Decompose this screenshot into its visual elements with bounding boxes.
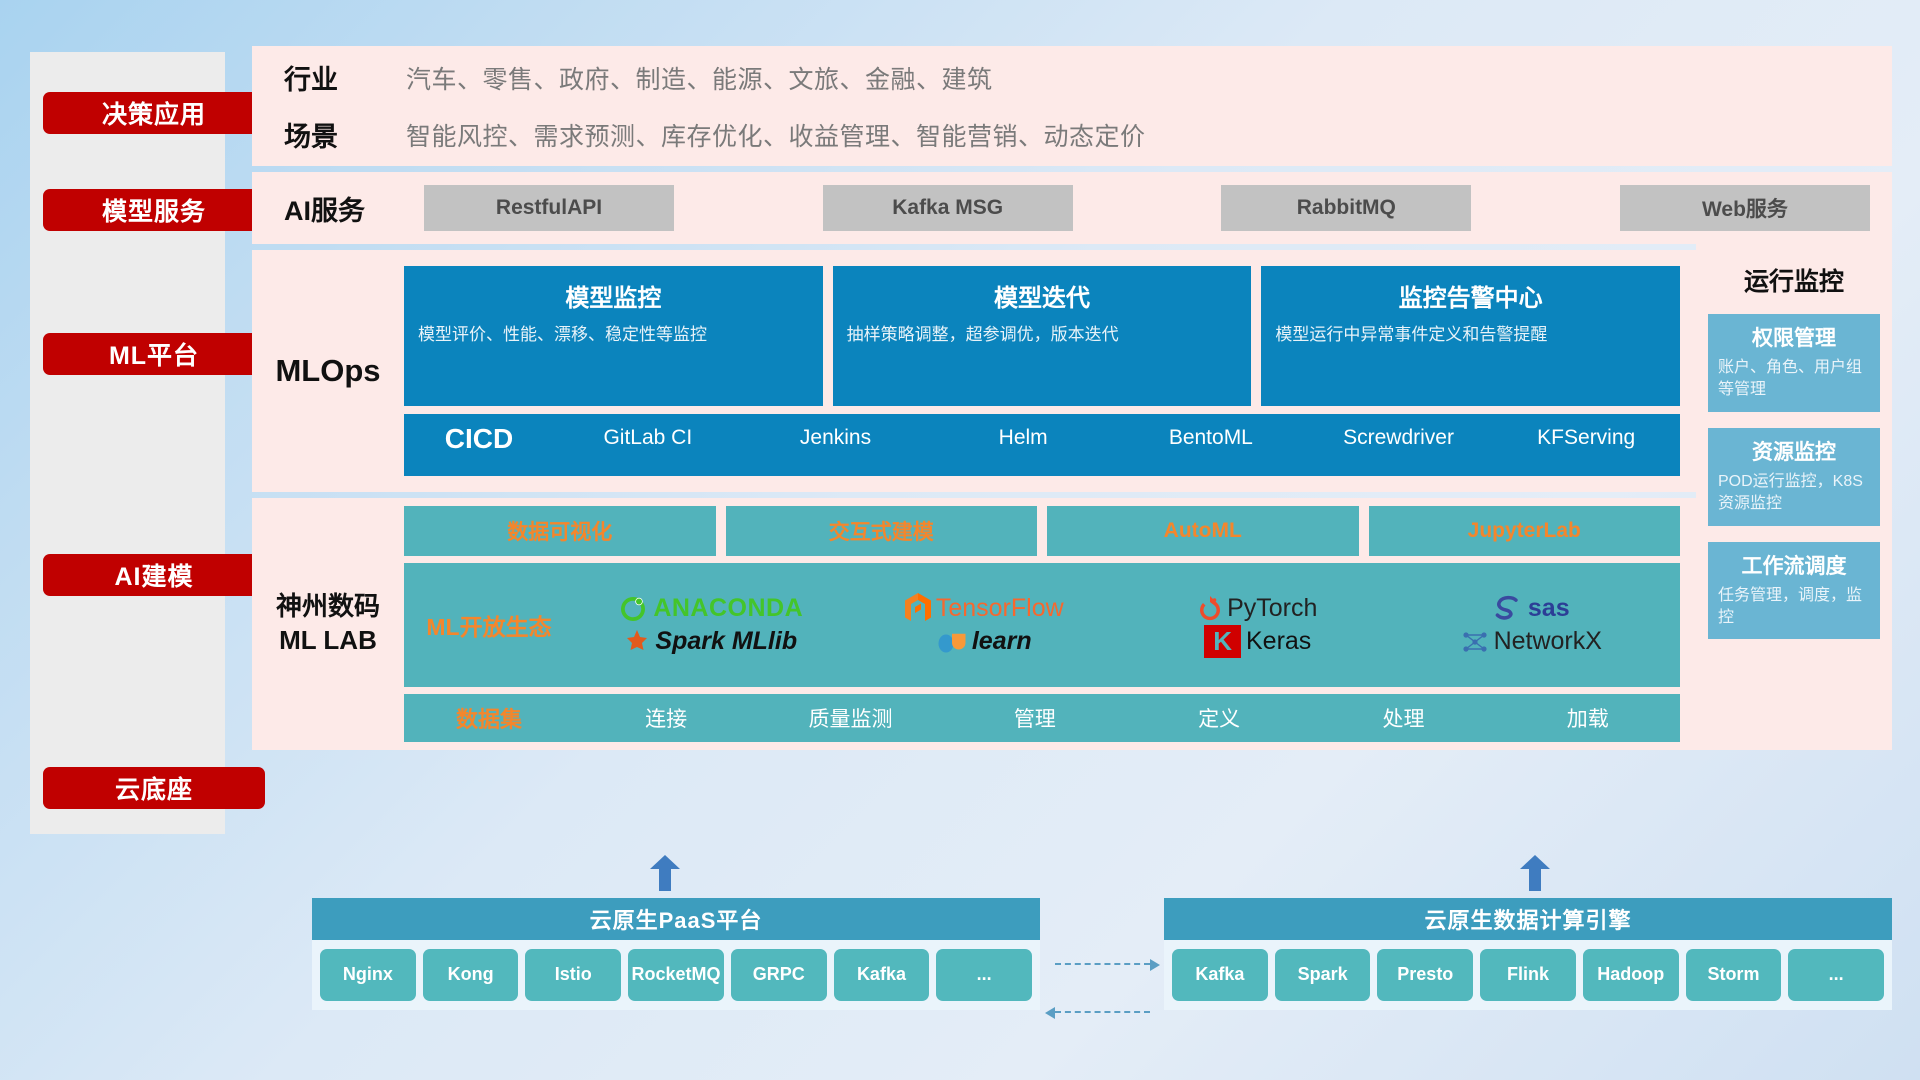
mlops-card-model-monitoring[interactable]: 模型监控 模型评价、性能、漂移、稳定性等监控 — [404, 266, 823, 406]
tensorflow-icon — [905, 593, 931, 625]
cicd-item-helm[interactable]: Helm — [929, 424, 1117, 452]
dashed-arrow-left — [1055, 1011, 1150, 1013]
left-rail — [30, 52, 225, 834]
arrow-up-paas — [650, 855, 680, 891]
band-industry-scenario: 行业 汽车、零售、政府、制造、能源、文旅、金融、建筑 场景 智能风控、需求预测、… — [252, 46, 1892, 166]
industry-row: 行业 汽车、零售、政府、制造、能源、文旅、金融、建筑 — [284, 58, 1892, 97]
pytorch-label: PyTorch — [1227, 594, 1317, 623]
paas-chip-kafka[interactable]: Kafka — [834, 949, 930, 1001]
card-title: 监控告警中心 — [1275, 278, 1666, 313]
ai-service-chip-kafka-msg[interactable]: Kafka MSG — [823, 185, 1073, 231]
cicd-row: CICD GitLab CI Jenkins Helm BentoML Scre… — [404, 414, 1680, 476]
card-desc: POD运行监控，K8S资源监控 — [1718, 471, 1870, 516]
dataset-item-quality[interactable]: 质量监测 — [758, 703, 942, 733]
cloud-data-engine-title: 云原生数据计算引擎 — [1164, 898, 1892, 940]
scenario-value: 智能风控、需求预测、库存优化、收益管理、智能营销、动态定价 — [406, 117, 1146, 153]
rail-label: 云底座 — [115, 770, 193, 806]
paas-chip-more[interactable]: ... — [936, 949, 1032, 1001]
cicd-title: CICD — [404, 424, 554, 455]
dataset-label: 数据集 — [404, 702, 574, 734]
monitor-card-workflow[interactable]: 工作流调度 任务管理，调度，监控 — [1708, 542, 1880, 640]
sas-label: sas — [1528, 594, 1570, 623]
dataset-item-process[interactable]: 处理 — [1311, 703, 1495, 733]
arrow-up-data-engine — [1520, 855, 1550, 891]
sas-logo: sas — [1493, 594, 1570, 623]
card-title: 资源监控 — [1718, 436, 1870, 466]
monitor-card-permission[interactable]: 权限管理 账户、角色、用户组等管理 — [1708, 314, 1880, 412]
engine-chip-more[interactable]: ... — [1788, 949, 1884, 1001]
band-ai-service: AI服务 RestfulAPI Kafka MSG RabbitMQ Web服务 — [252, 172, 1892, 244]
keras-logo: K Keras — [1204, 625, 1311, 658]
cicd-item-jenkins[interactable]: Jenkins — [742, 424, 930, 452]
band-ai-modeling: 神州数码 ML LAB 数据可视化 交互式建模 AutoML JupyterLa… — [252, 498, 1892, 750]
ai-service-chip-rabbitmq[interactable]: RabbitMQ — [1221, 185, 1471, 231]
networkx-label: NetworkX — [1494, 627, 1602, 656]
spark-label: Spark MLlib — [655, 627, 797, 656]
monitor-card-resource[interactable]: 资源监控 POD运行监控，K8S资源监控 — [1708, 428, 1880, 526]
tensorflow-label: TensorFlow — [936, 594, 1064, 623]
engine-chip-kafka[interactable]: Kafka — [1172, 949, 1268, 1001]
rail-label: 决策应用 — [102, 95, 206, 131]
rail-item-ai-modeling[interactable]: AI建模 — [43, 554, 265, 596]
rail-item-model-service[interactable]: 模型服务 — [43, 189, 265, 231]
anaconda-icon — [618, 594, 648, 624]
dashed-arrow-right — [1055, 963, 1150, 965]
dataset-item-load[interactable]: 加载 — [1496, 703, 1680, 733]
card-title: 模型迭代 — [847, 278, 1238, 313]
cicd-item-kfserving[interactable]: KFServing — [1492, 424, 1680, 452]
engine-chip-spark[interactable]: Spark — [1275, 949, 1371, 1001]
rail-item-decision-application[interactable]: 决策应用 — [43, 92, 265, 134]
card-desc: 抽样策略调整，超参调优，版本迭代 — [847, 323, 1238, 348]
pytorch-logo: PyTorch — [1198, 594, 1317, 624]
ml-lab-label-line1: 神州数码 — [276, 590, 380, 624]
cicd-item-screwdriver[interactable]: Screwdriver — [1305, 424, 1493, 452]
card-desc: 任务管理，调度，监控 — [1718, 585, 1870, 630]
mlops-card-alert-center[interactable]: 监控告警中心 模型运行中异常事件定义和告警提醒 — [1261, 266, 1680, 406]
monitor-column: 运行监控 权限管理 账户、角色、用户组等管理 资源监控 POD运行监控，K8S资… — [1696, 244, 1892, 744]
card-title: 工作流调度 — [1718, 550, 1870, 580]
cloud-paas-title: 云原生PaaS平台 — [312, 898, 1040, 940]
engine-chip-storm[interactable]: Storm — [1686, 949, 1782, 1001]
keras-label: Keras — [1246, 627, 1311, 656]
dataset-item-manage[interactable]: 管理 — [943, 703, 1127, 733]
scenario-row: 场景 智能风控、需求预测、库存优化、收益管理、智能营销、动态定价 — [284, 115, 1892, 154]
paas-chip-istio[interactable]: Istio — [525, 949, 621, 1001]
networkx-logo: NetworkX — [1461, 627, 1602, 656]
paas-chip-grpc[interactable]: GRPC — [731, 949, 827, 1001]
card-desc: 模型运行中异常事件定义和告警提醒 — [1275, 323, 1666, 348]
industry-value: 汽车、零售、政府、制造、能源、文旅、金融、建筑 — [406, 60, 993, 96]
anaconda-label: ANACONDA — [653, 594, 803, 623]
dataset-row: 数据集 连接 质量监测 管理 定义 处理 加载 — [404, 694, 1680, 742]
architecture-diagram: 决策应用 模型服务 ML平台 AI建模 云底座 行业 汽车、零售、政府、制造、能… — [0, 0, 1920, 1080]
anaconda-logo: ANACONDA — [618, 594, 803, 624]
paas-chip-nginx[interactable]: Nginx — [320, 949, 416, 1001]
ai-service-label: AI服务 — [284, 189, 424, 228]
cloud-data-engine: 云原生数据计算引擎 Kafka Spark Presto Flink Hadoo… — [1164, 898, 1892, 1010]
industry-label: 行业 — [284, 58, 406, 97]
scikit-icon — [937, 628, 967, 656]
rail-label: AI建模 — [114, 557, 193, 593]
ai-service-chip-restfulapi[interactable]: RestfulAPI — [424, 185, 674, 231]
tab-data-visualization[interactable]: 数据可视化 — [404, 506, 716, 556]
pytorch-icon — [1198, 594, 1222, 624]
rail-item-ml-platform[interactable]: ML平台 — [43, 333, 265, 375]
ml-lab-label-line2: ML LAB — [279, 624, 377, 658]
engine-chip-presto[interactable]: Presto — [1377, 949, 1473, 1001]
card-desc: 模型评价、性能、漂移、稳定性等监控 — [418, 323, 809, 348]
keras-icon: K — [1204, 625, 1241, 658]
ml-ecosystem-label: ML开放生态 — [404, 608, 574, 642]
main-stack: 行业 汽车、零售、政府、制造、能源、文旅、金融、建筑 场景 智能风控、需求预测、… — [252, 46, 1892, 750]
tab-automl[interactable]: AutoML — [1047, 506, 1359, 556]
paas-chip-kong[interactable]: Kong — [423, 949, 519, 1001]
cicd-item-bentoml[interactable]: BentoML — [1117, 424, 1305, 452]
mlops-card-model-iteration[interactable]: 模型迭代 抽样策略调整，超参调优，版本迭代 — [833, 266, 1252, 406]
card-desc: 账户、角色、用户组等管理 — [1718, 357, 1870, 402]
card-title: 模型监控 — [418, 278, 809, 313]
cloud-section: 云原生PaaS平台 Nginx Kong Istio RocketMQ GRPC… — [312, 898, 1892, 1010]
mlops-label: MLOps — [252, 353, 404, 389]
monitor-title: 运行监控 — [1708, 262, 1880, 298]
networkx-icon — [1461, 629, 1489, 655]
dataset-item-define[interactable]: 定义 — [1127, 703, 1311, 733]
tab-jupyterlab[interactable]: JupyterLab — [1369, 506, 1681, 556]
rail-label: 模型服务 — [102, 192, 206, 228]
ml-lab-label: 神州数码 ML LAB — [252, 498, 404, 750]
rail-label: ML平台 — [109, 336, 199, 372]
band-ml-platform: MLOps 模型监控 模型评价、性能、漂移、稳定性等监控 模型迭代 抽样策略调整… — [252, 250, 1892, 492]
cicd-item-gitlab-ci[interactable]: GitLab CI — [554, 424, 742, 452]
ai-service-chip-web-service[interactable]: Web服务 — [1620, 185, 1870, 231]
scikit-learn-label: learn — [972, 627, 1032, 656]
dataset-item-connect[interactable]: 连接 — [574, 703, 758, 733]
scenario-label: 场景 — [284, 115, 406, 154]
scikit-learn-logo: learn — [937, 627, 1032, 656]
card-title: 权限管理 — [1718, 322, 1870, 352]
tab-interactive-modeling[interactable]: 交互式建模 — [726, 506, 1038, 556]
spark-mllib-logo: Spark MLlib — [624, 627, 797, 656]
engine-chip-flink[interactable]: Flink — [1480, 949, 1576, 1001]
sas-icon — [1493, 595, 1523, 623]
rail-item-cloud-foundation[interactable]: 云底座 — [43, 767, 265, 809]
tensorflow-logo: TensorFlow — [905, 593, 1064, 625]
paas-chip-rocketmq[interactable]: RocketMQ — [628, 949, 724, 1001]
spark-icon — [624, 629, 650, 655]
cloud-paas-platform: 云原生PaaS平台 Nginx Kong Istio RocketMQ GRPC… — [312, 898, 1040, 1010]
ml-ecosystem-row: ML开放生态 ANACONDA TensorFlow — [404, 563, 1680, 687]
engine-chip-hadoop[interactable]: Hadoop — [1583, 949, 1679, 1001]
